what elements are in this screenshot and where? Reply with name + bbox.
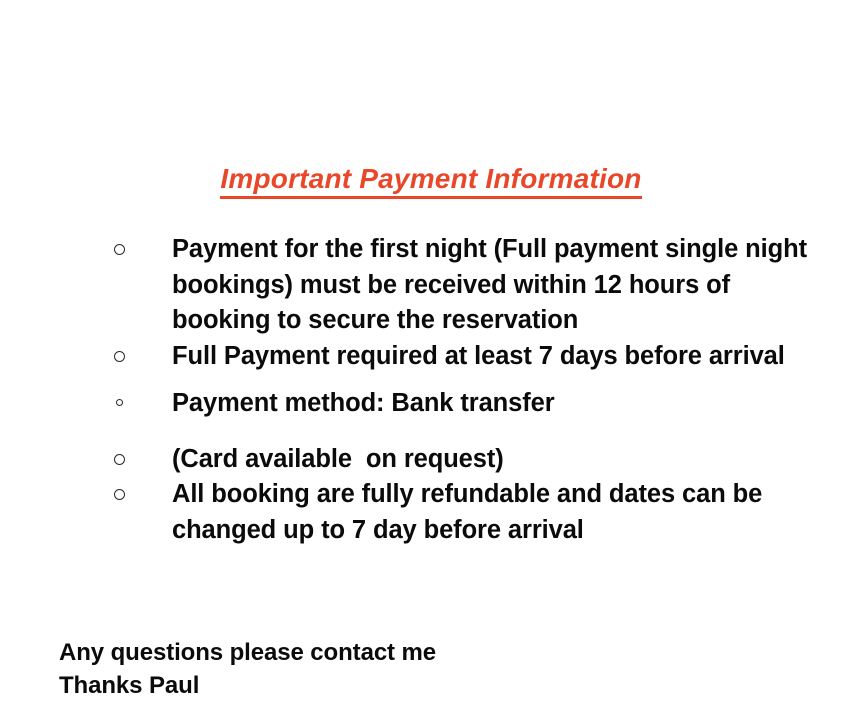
list-item-label: Payment method: Bank transfer <box>172 386 832 422</box>
hollow-circle-bullet-icon <box>114 351 125 362</box>
list-item: All booking are fully refundable and dat… <box>0 477 862 548</box>
hollow-circle-bullet-icon <box>114 489 125 500</box>
contact-footer: Any questions please contact me Thanks P… <box>59 636 436 702</box>
list-item: Payment method: Bank transfer <box>0 386 862 422</box>
contact-footer-line-2: Thanks Paul <box>59 669 436 702</box>
payment-information-slide: Important Payment Information Payment fo… <box>0 0 862 720</box>
hollow-circle-bullet-icon <box>114 454 125 465</box>
list-item: (Card available on request) <box>0 442 862 478</box>
hollow-circle-bullet-icon <box>116 399 123 406</box>
list-item-label: (Card available on request) <box>172 442 832 478</box>
list-item: Full Payment required at least 7 days be… <box>0 339 862 375</box>
hollow-circle-bullet-icon <box>114 244 125 255</box>
list-item-label: Payment for the first night (Full paymen… <box>172 232 832 339</box>
contact-footer-line-1: Any questions please contact me <box>59 636 436 669</box>
page-title-text: Important Payment Information <box>220 163 641 199</box>
payment-terms-list: Payment for the first night (Full paymen… <box>0 232 862 548</box>
list-item-label: All booking are fully refundable and dat… <box>172 477 832 548</box>
list-item-label: Full Payment required at least 7 days be… <box>172 339 832 375</box>
list-item: Payment for the first night (Full paymen… <box>0 232 862 339</box>
page-title: Important Payment Information <box>0 163 862 199</box>
